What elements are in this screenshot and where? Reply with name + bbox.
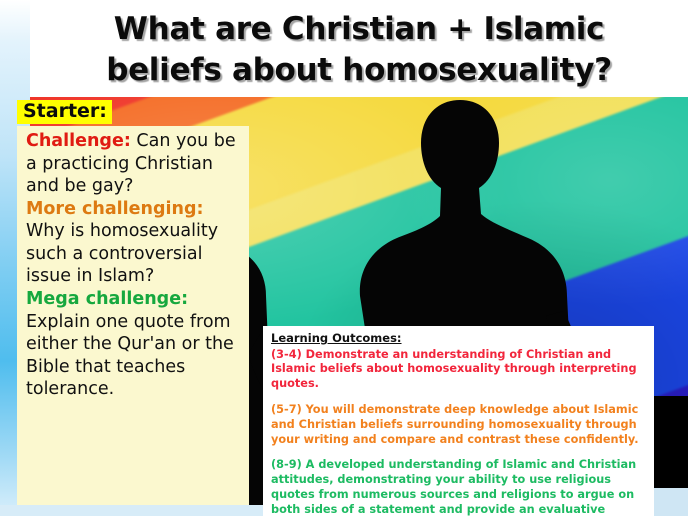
- learning-outcome-8-9: (8-9) A developed understanding of Islam…: [271, 458, 646, 516]
- bottom-edge-strip: [0, 505, 263, 516]
- learning-outcomes-panel: Learning Outcomes: (3-4) Demonstrate an …: [263, 326, 654, 516]
- page-title-line-2: beliefs about homosexuality?: [106, 50, 612, 91]
- starter-mega-challenge-item: Mega challenge: Explain one quote from e…: [26, 288, 242, 401]
- learning-outcomes-title: Learning Outcomes:: [271, 331, 646, 347]
- starter-mega-challenge-body: Explain one quote from either the Qur'an…: [26, 312, 234, 400]
- starter-more-challenging-label: More challenging:: [26, 199, 204, 219]
- photo-corner-blue-strip: [652, 488, 688, 516]
- starter-panel: Challenge: Can you be a practicing Chris…: [17, 126, 249, 505]
- slide-root: What are Christian + Islamic beliefs abo…: [0, 0, 688, 516]
- learning-outcome-3-4: (3-4) Demonstrate an understanding of Ch…: [271, 348, 646, 392]
- starter-more-challenging-item: More challenging: Why is homosexuality s…: [26, 198, 242, 288]
- starter-mega-challenge-label: Mega challenge:: [26, 289, 188, 309]
- starter-challenge-item: Challenge: Can you be a practicing Chris…: [26, 130, 242, 198]
- starter-more-challenging-body: Why is homosexuality such a controversia…: [26, 221, 218, 286]
- starter-header-label: Starter:: [17, 100, 112, 124]
- page-title-line-1: What are Christian + Islamic: [114, 9, 604, 50]
- slide-title-banner: What are Christian + Islamic beliefs abo…: [30, 0, 688, 97]
- learning-outcome-5-7: (5-7) You will demonstrate deep knowledg…: [271, 403, 646, 447]
- starter-challenge-label: Challenge:: [26, 131, 131, 151]
